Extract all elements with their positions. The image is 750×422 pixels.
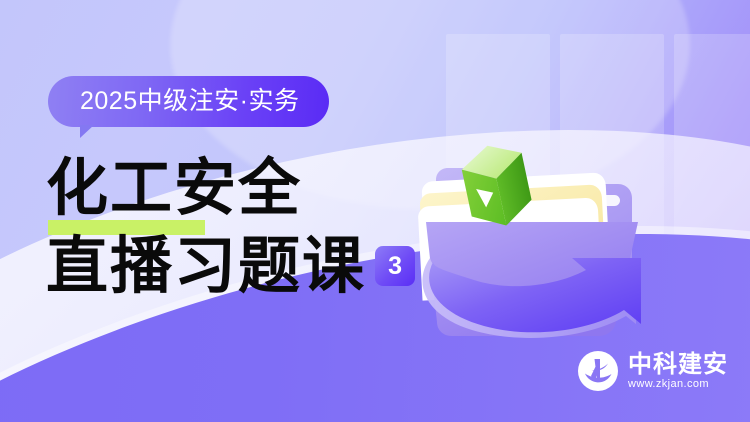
brand-logo: 中科建安 www.zkjan.com — [577, 350, 728, 392]
brand-url: www.zkjan.com — [628, 377, 728, 391]
course-banner: 2025中级注安·实务 化工安全 直播习题课 3 中科建安 www.zkj — [0, 0, 750, 422]
brand-logo-text: 中科建安 www.zkjan.com — [628, 351, 728, 391]
page-title: 化工安全 直播习题课 3 — [46, 152, 466, 302]
title-line-2-text: 直播习题课 — [46, 230, 366, 302]
title-line-1: 化工安全 — [46, 152, 466, 224]
course-tag: 2025中级注安·实务 — [48, 76, 329, 127]
brand-name: 中科建安 — [628, 351, 728, 377]
course-tag-label: 2025中级注安·实务 — [80, 89, 299, 114]
episode-badge: 3 — [375, 246, 415, 286]
title-line-2: 直播习题课 3 — [46, 230, 466, 302]
course-tag-tail — [80, 125, 94, 138]
title-line-1-text: 化工安全 — [46, 151, 302, 224]
brand-logo-icon — [577, 350, 619, 392]
course-tag-pill: 2025中级注安·实务 — [48, 76, 329, 127]
